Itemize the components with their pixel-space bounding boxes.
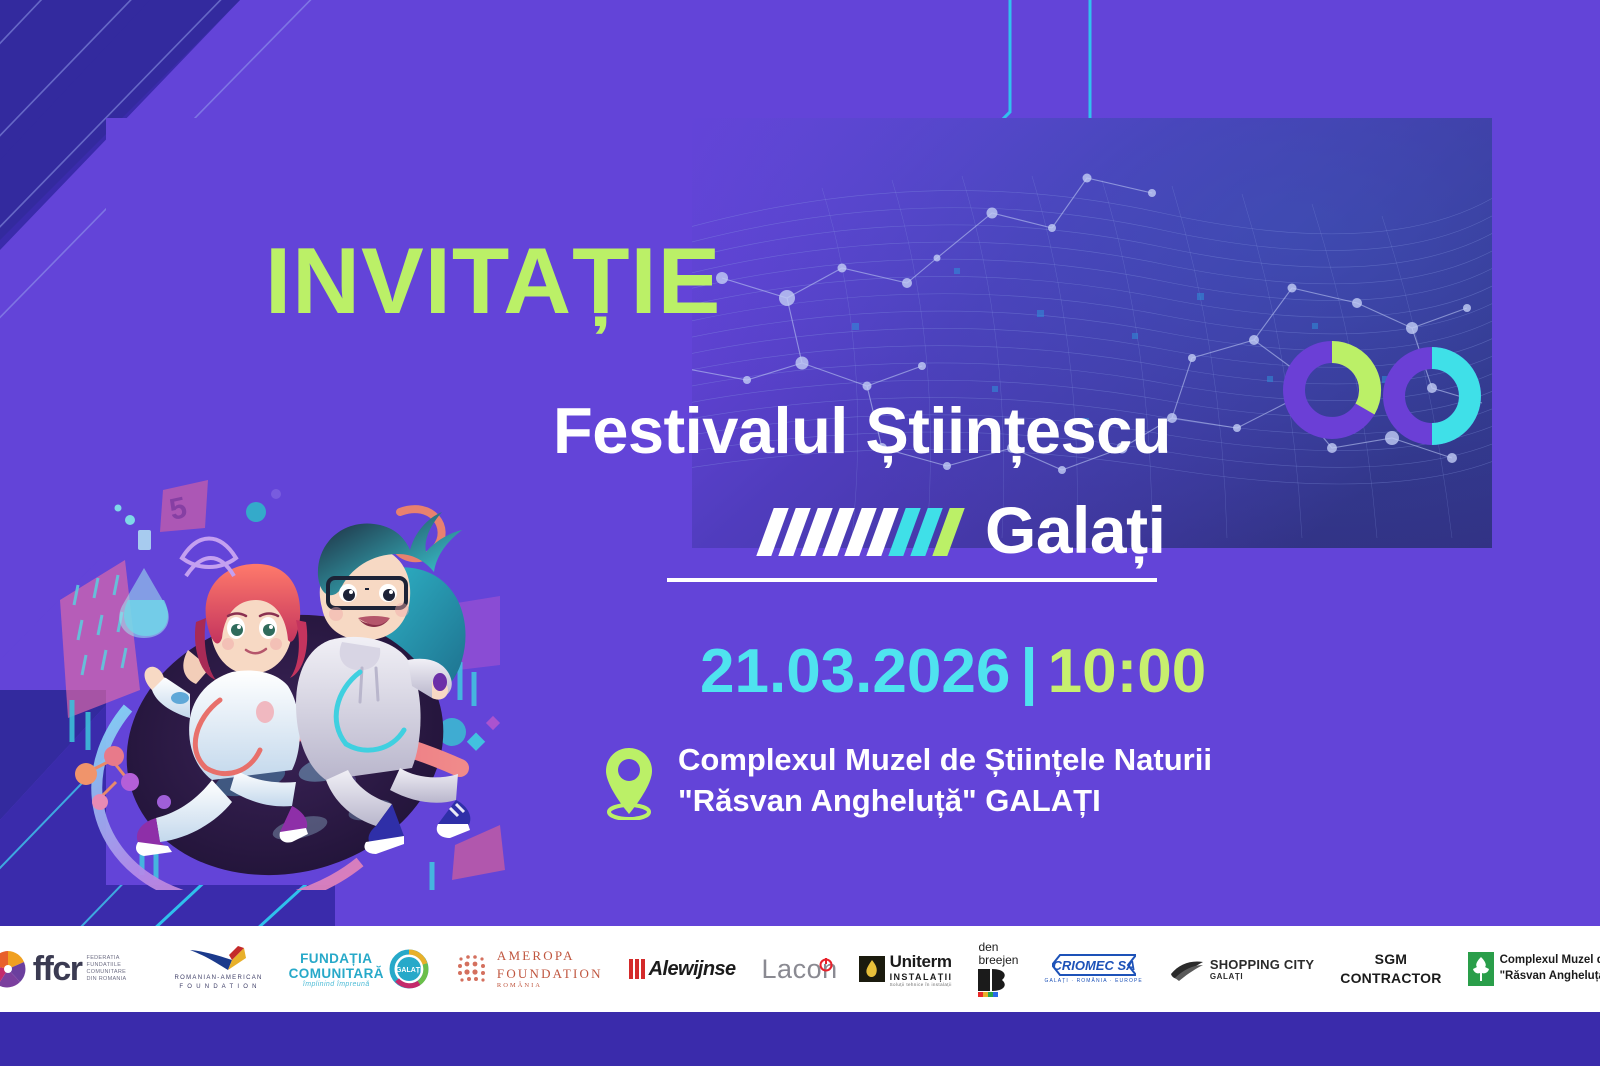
sponsor-uniterm-line3: Soluții tehnice în instalații (890, 982, 953, 987)
datetime-separator: | (1010, 637, 1047, 706)
sponsor-den-line2: breejen (978, 954, 1018, 967)
sponsor-alewijnse: Alewijnse (629, 939, 736, 999)
sponsor-criomec-sa: CRIOMEC SA GALAȚI · ROMÂNIA · EUROPE (1044, 939, 1142, 999)
db-monogram-icon (978, 969, 1008, 997)
invitation-poster: 5 (0, 0, 1600, 1066)
sponsor-ffcr: ffcr FEDERATIA FUNDATIILE COMUNITARE DIN… (0, 939, 149, 999)
sponsor-fundatia-comunitara-galati: FUNDAȚIA COMUNITARĂ împlinind împreună G… (289, 939, 429, 999)
sponsor-uniterm-instalatii: Uniterm INSTALAȚII Soluții tehnice în in… (859, 939, 953, 999)
event-datetime: 21.03.2026|10:00 (700, 641, 1206, 703)
sponsor-fund-line3: împlinind împreună (289, 981, 384, 988)
sponsor-fund-line2: COMUNITARĂ (289, 966, 384, 981)
sponsor-logo-bar: FONDUL ȘTIINȚESCU ffcr FEDERATIA FUNDATI… (0, 926, 1600, 1012)
sponsor-shop-line2: GALAȚI (1210, 972, 1314, 981)
location-line-2: "Răsvan Angheluță" GALAȚI (678, 781, 1212, 822)
divider-rule (667, 578, 1157, 582)
sponsor-complexul-muzeal: Complexul Muzel de Științele Naturii "Ră… (1468, 939, 1600, 999)
festival-city: Galați (985, 497, 1165, 563)
sponsor-muzeal-line1: Complexul Muzel de Științele Naturii (1500, 953, 1600, 969)
sponsor-raf-line1: ROMANIAN-AMERICAN (175, 975, 263, 981)
sponsor-ffcr-sub: FEDERATIA FUNDATIILE COMUNITARE DIN ROMA… (87, 955, 149, 983)
festival-name-line1: Festivalul Științescu (553, 398, 1171, 463)
sponsor-romanian-american-foundation: ROMANIAN-AMERICAN F O U N D A T I O N (175, 939, 263, 999)
green-tree-icon (1468, 952, 1494, 986)
sponsor-alewijnse-wordmark: Alewijnse (649, 958, 736, 981)
sponsor-shop-line1: SHOPPING CITY (1210, 957, 1314, 972)
sponsor-uniterm-line2: INSTALAȚII (890, 972, 953, 982)
sponsor-ffcr-sub1: FEDERATIA (87, 955, 120, 961)
molecular-network-pattern (692, 118, 1492, 548)
sponsor-criomec-wordmark: CRIOMEC SA (1052, 958, 1135, 973)
page-title: INVITAȚIE (265, 234, 721, 328)
sponsor-muzeal-line2: "Răsvan Angheluță" GALAȚI (1500, 969, 1600, 985)
location-text: Complexul Muzel de Științele Naturii "Ră… (678, 740, 1212, 822)
red-bars-icon (629, 959, 647, 979)
sponsor-fund-line1: FUNDAȚIA (289, 951, 384, 966)
sponsor-raf-line2: F O U N D A T I O N (179, 984, 258, 990)
sponsor-criomec-sub: GALAȚI · ROMÂNIA · EUROPE (1044, 978, 1142, 984)
map-pin-icon (600, 742, 658, 820)
sponsor-ameropa-line3: ROMÂNIA (497, 982, 603, 991)
sponsor-ameropa-foundation: AMEROPA FOUNDATION ROMÂNIA (455, 939, 603, 999)
sponsor-uniterm-line1: Uniterm (890, 952, 953, 972)
galati-circle-icon: GALAȚI (389, 949, 429, 989)
location-line-1: Complexul Muzel de Științele Naturii (678, 740, 1212, 781)
lacon-o-icon (819, 958, 833, 972)
event-time: 10:00 (1048, 637, 1207, 706)
festival-name-line2: Galați (765, 492, 1165, 568)
sponsor-fund-text: FUNDAȚIA COMUNITARĂ împlinind împreună (289, 951, 384, 988)
sponsor-ameropa-line1: AMEROPA (497, 947, 603, 965)
sponsor-galati-badge: GALAȚI (396, 967, 422, 974)
sponsor-ameropa-line2: FOUNDATION (497, 965, 603, 983)
dot-grid-icon (455, 951, 491, 987)
sponsor-ffcr-sub2: FUNDATIILE COMUNITARE (87, 962, 127, 975)
swan-icon (1169, 956, 1205, 982)
flame-icon (859, 956, 885, 982)
sponsor-lacon: Lacon (762, 939, 833, 999)
sponsor-sgm-line1: SGM (1340, 950, 1441, 969)
two-kid-scientists-illustration: 5 (60, 450, 530, 890)
flower-icon (0, 949, 28, 989)
sponsor-den-breejen: den breejen (978, 939, 1018, 999)
sponsor-sgm-contractor: SGM CONTRACTOR (1340, 939, 1441, 999)
bird-icon (188, 946, 250, 972)
sponsor-sgm-line2: CONTRACTOR (1340, 969, 1441, 988)
sponsor-ffcr-sub3: DIN ROMANIA (87, 976, 127, 982)
criomec-icon: CRIOMEC SA (1052, 954, 1136, 976)
event-date: 21.03.2026 (700, 637, 1010, 706)
sponsor-shopping-city-galati: SHOPPING CITY GALAȚI (1169, 939, 1314, 999)
sponsor-den-line1: den (978, 941, 1018, 954)
slanted-bars-icon (765, 504, 963, 556)
sponsor-ffcr-wordmark: ffcr (33, 950, 82, 989)
event-location: Complexul Muzel de Științele Naturii "Ră… (600, 740, 1212, 822)
